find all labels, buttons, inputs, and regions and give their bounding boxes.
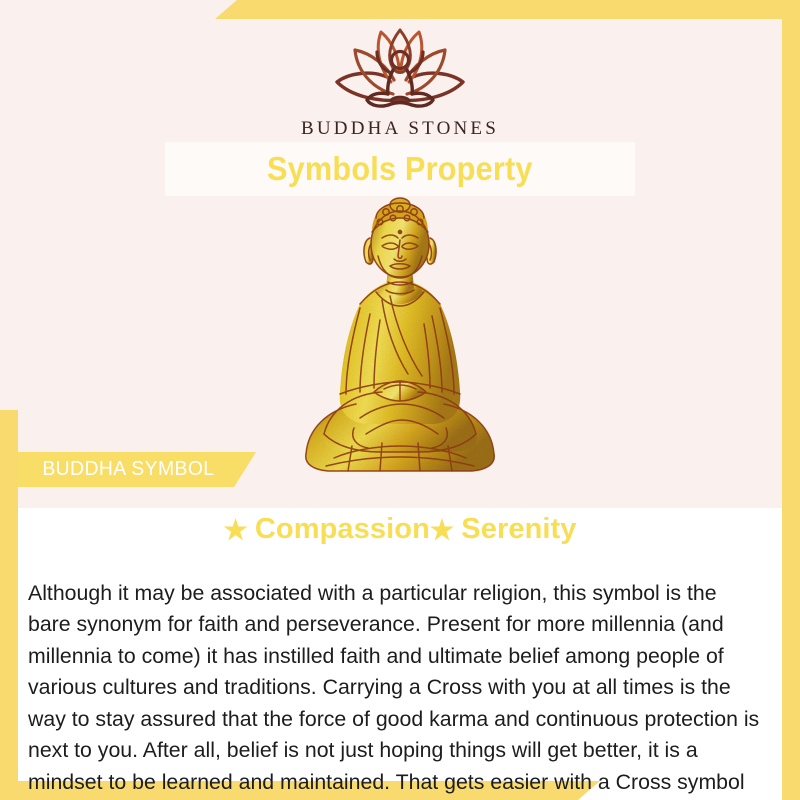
section-ribbon-label: BUDDHA SYMBOL xyxy=(21,458,214,481)
hero-image xyxy=(290,196,510,488)
infographic-page: BUDDHA STONES Symbols Property xyxy=(0,0,800,800)
brand-logo: BUDDHA STONES xyxy=(0,22,800,140)
section-ribbon: BUDDHA SYMBOL xyxy=(18,452,256,487)
keyword-compassion: Compassion xyxy=(255,513,430,545)
keyword-serenity: Serenity xyxy=(461,513,576,545)
brand-name: BUDDHA STONES xyxy=(0,118,800,140)
body-paragraph: Although it may be associated with a par… xyxy=(28,578,763,800)
decorative-band-left xyxy=(0,410,18,800)
decorative-band-top xyxy=(215,0,800,19)
title-banner: Symbols Property xyxy=(165,142,635,196)
keywords-heading: ★Compassion★Serenity xyxy=(0,513,800,546)
star-icon-second: ★ xyxy=(430,515,454,545)
star-icon-first: ★ xyxy=(223,515,247,545)
lotus-meditation-figure-icon xyxy=(315,22,485,114)
golden-seated-buddha-icon xyxy=(290,196,510,488)
page-title: Symbols Property xyxy=(267,150,533,188)
